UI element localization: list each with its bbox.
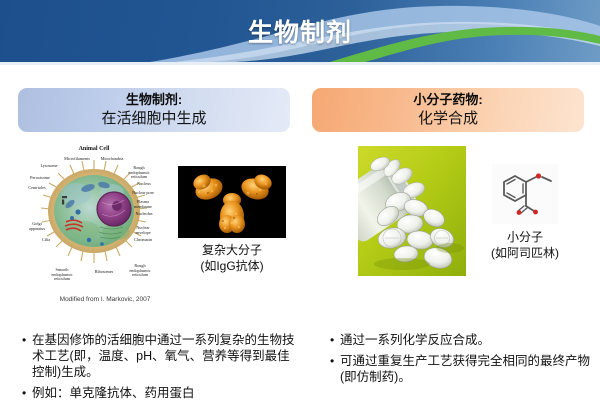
animal-cell-figure: Animal Cell: [32, 146, 156, 294]
cell-label-nuclear-envelope: Nuclear envelope: [130, 226, 156, 235]
pills-figure: [358, 146, 466, 276]
right-title-line1: 小分子药物:: [312, 91, 584, 108]
left-bullet-list: • 在基因修饰的活细胞中通过一系列复杂的生物技术工艺(即，温度、pH、氧气、营养…: [22, 332, 302, 406]
aspirin-skeletal-structure-icon: [492, 164, 558, 224]
left-column-title-box: 生物制剂: 在活细胞中生成: [18, 88, 290, 132]
header-underline: [0, 62, 600, 65]
page-title: 生物制剂: [0, 13, 600, 49]
right-title-line2: 化学合成: [312, 108, 584, 129]
right-bullet-list: • 通过一系列化学反应合成。 • 可通过重复生产工艺获得完全相同的最终产物(即仿…: [330, 332, 592, 390]
cell-label-microfilaments: Microfilaments: [60, 157, 94, 162]
left-title-line2: 在活细胞中生成: [18, 108, 290, 129]
animal-cell-credit: Modified from I. Markovic, 2007: [30, 296, 180, 303]
antibody-caption: 复杂大分子 (如IgG抗体): [178, 242, 286, 274]
aspirin-image: [492, 164, 558, 224]
antibody-caption-line2: (如IgG抗体): [178, 258, 286, 274]
bullet-marker-icon: •: [22, 385, 32, 401]
right-column-title-box: 小分子药物: 化学合成: [312, 88, 584, 132]
bullet-marker-icon: •: [330, 332, 340, 348]
list-item: • 通过一系列化学反应合成。: [330, 332, 592, 348]
left-bullet-2: 例如：单克隆抗体、药用蛋白: [32, 385, 302, 401]
antibody-molecule-icon: [178, 166, 286, 238]
right-bullet-2: 可通过重复生产工艺获得完全相同的最终产物(即仿制药)。: [340, 353, 592, 385]
cell-label-rough-er-bottom: Rough endoplasmic reticulum: [124, 264, 156, 278]
cell-label-cilia: Cilia: [36, 238, 56, 243]
cell-label-centrioles: Centrioles: [24, 186, 50, 191]
left-title-line1: 生物制剂:: [18, 91, 290, 108]
slide-header: 生物制剂: [0, 0, 600, 62]
cell-label-peroxisome: Peroxisome: [26, 176, 54, 181]
antibody-caption-line1: 复杂大分子: [178, 242, 286, 258]
cell-label-mitochondria: Mitochondria: [96, 157, 128, 162]
list-item: • 可通过重复生产工艺获得完全相同的最终产物(即仿制药)。: [330, 353, 592, 385]
cell-label-golgi: Golgi apparatus: [24, 222, 50, 231]
aspirin-figure: 小分子 (如阿司匹林): [492, 164, 558, 261]
cell-label-chromatin: Chromatin: [130, 238, 156, 243]
list-item: • 例如：单克隆抗体、药用蛋白: [22, 385, 302, 401]
cell-label-rough-er: Rough endoplasmic reticulum: [124, 166, 154, 180]
cell-label-nucleus: Nucleus: [132, 182, 156, 187]
cell-label-smooth-er: Smooth endoplasmic reticulum: [46, 268, 78, 282]
cell-label-nucleolus: Nucleolus: [132, 212, 156, 217]
antibody-figure: 复杂大分子 (如IgG抗体): [178, 166, 286, 274]
cell-label-nuclear-pore: Nuclear pore: [128, 191, 158, 196]
pills-image: [358, 146, 466, 276]
pill-bottle-illustration: [358, 146, 466, 276]
bullet-marker-icon: •: [330, 353, 340, 369]
left-bullet-1: 在基因修饰的活细胞中通过一系列复杂的生物技术工艺(即，温度、pH、氧气、营养等得…: [32, 332, 302, 380]
bullet-marker-icon: •: [22, 332, 32, 348]
antibody-image: [178, 166, 286, 238]
list-item: • 在基因修饰的活细胞中通过一系列复杂的生物技术工艺(即，温度、pH、氧气、营养…: [22, 332, 302, 380]
cell-label-plasma-membrane: Plasma membrane: [130, 200, 156, 209]
cell-label-ribosomes: Ribosomes: [90, 270, 118, 275]
cell-label-lysosome: Lysosome: [36, 164, 62, 169]
aspirin-caption-line1: 小分子: [475, 229, 575, 245]
right-bullet-1: 通过一系列化学反应合成。: [340, 332, 592, 348]
aspirin-caption: 小分子 (如阿司匹林): [475, 229, 575, 261]
figures-row: Animal Cell: [0, 144, 600, 319]
aspirin-caption-line2: (如阿司匹林): [475, 245, 575, 261]
